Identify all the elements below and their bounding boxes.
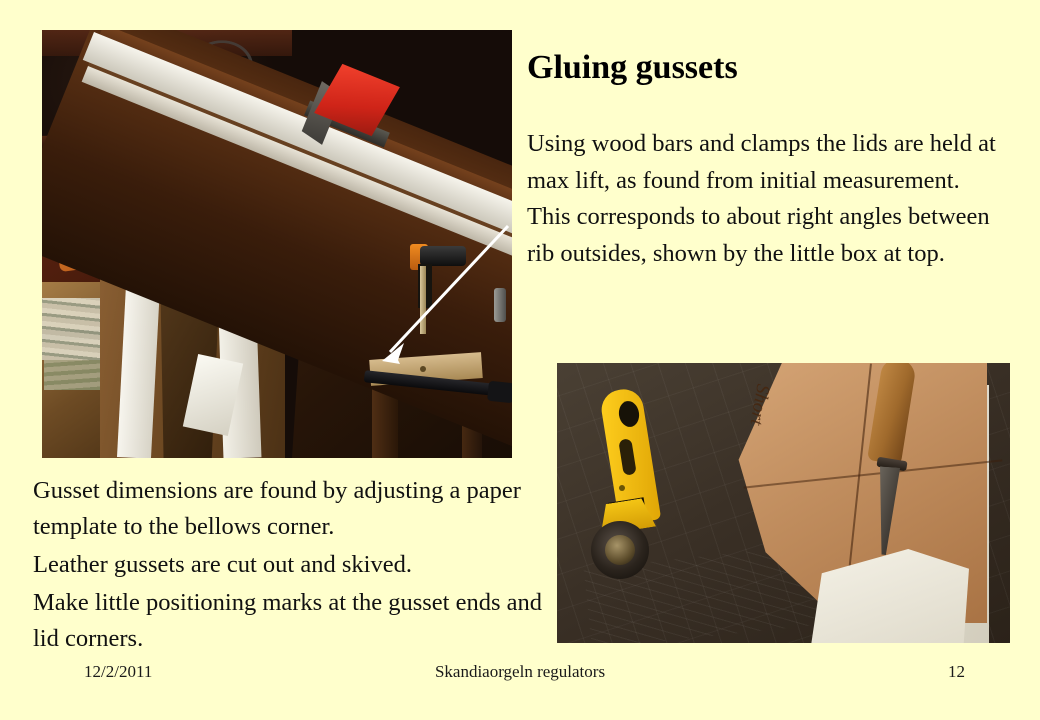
bellows-clamping-photo [42,30,512,458]
leather-gusset-photo: Short [557,363,1010,643]
footer-title: Skandiaorgeln regulators [0,662,1040,682]
lower-text-block: Gusset dimensions are found by adjusting… [33,473,553,657]
body-paragraph: Using wood bars and clamps the lids are … [527,126,1005,272]
lower-text-line-3: Make little positioning marks at the gus… [33,585,553,657]
lower-text-line-2: Leather gussets are cut out and skived. [33,547,553,583]
rotary-cutter-rivet [619,485,625,491]
template-handwriting: Short [685,373,774,465]
white-arrow-annotation [42,30,512,458]
page-title: Gluing gussets [527,48,1027,88]
footer-page-number: 12 [948,662,965,682]
lower-text-line-1: Gusset dimensions are found by adjusting… [33,473,553,545]
slide: Short Gluing gussets Using wood bars and… [0,0,1040,720]
footer: 12/2/2011 Skandiaorgeln regulators 12 [0,662,1040,688]
rotary-cutter-blade-hub [605,535,635,565]
